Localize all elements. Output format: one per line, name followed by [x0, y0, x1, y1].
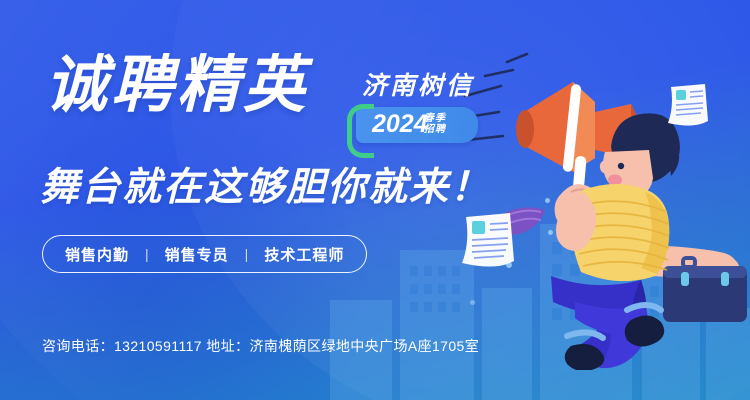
page-subtitle: 舞台就在这够胆你就来！ — [40, 156, 491, 212]
resume-document-icon — [452, 205, 524, 277]
badge-subtitle: 春季 招聘 — [424, 113, 446, 135]
badge-subtitle-line2: 招聘 — [424, 124, 446, 135]
briefcase-icon — [663, 258, 747, 322]
job-separator: | — [145, 246, 149, 262]
badge-subtitle-line1: 春季 — [424, 113, 446, 124]
job-position: 销售专员 — [165, 244, 229, 265]
job-separator: | — [245, 246, 249, 262]
job-position: 技术工程师 — [264, 244, 344, 265]
badge-green-accent — [347, 104, 374, 158]
company-name: 济南树信 — [362, 66, 474, 102]
job-position: 销售内勤 — [65, 244, 129, 265]
badge-year: 2024 — [372, 112, 428, 137]
job-positions-pill: 销售内勤 | 销售专员 | 技术工程师 — [42, 235, 367, 273]
contact-info: 咨询电话：13210591117 地址：济南槐荫区绿地中央广场A座1705室 — [42, 336, 479, 356]
page-title: 诚聘精英 — [45, 55, 309, 117]
recruitment-banner: 诚聘精英 济南树信 2024 春季 招聘 舞台就在这够胆你就来！ 销售内勤 | … — [0, 0, 750, 400]
resume-document-icon — [660, 78, 716, 134]
